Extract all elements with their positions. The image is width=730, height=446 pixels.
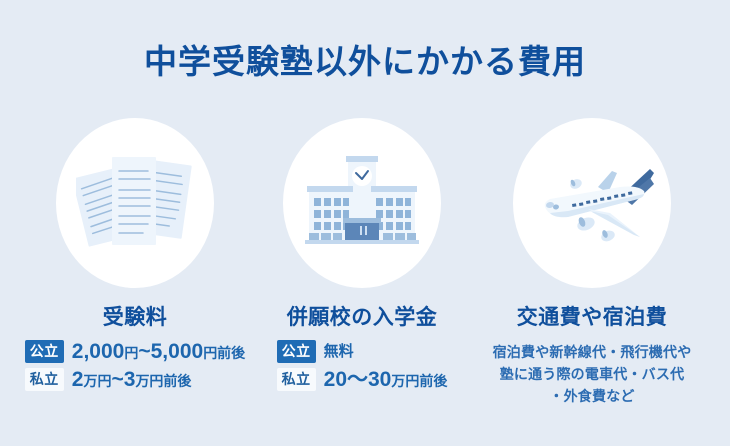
cost-column-travel-lodging: 交通費や宿泊費 宿泊費や新幹線代・飛行機代や 塾に通う際の電車代・バス代 ・外食… <box>476 118 708 407</box>
fee-amount-2: 5,000 <box>151 341 204 362</box>
page-title: 中学受験塾以外にかかる費用 <box>0 42 730 82</box>
documents-icon <box>76 147 194 259</box>
column-heading: 併願校の入学金 <box>287 305 438 331</box>
fee-rows: 公立 2,000円~5,000円前後 私立 2万円~3万円前後 <box>25 340 245 391</box>
column-description: 宿泊費や新幹線代・飛行機代や 塾に通う際の電車代・バス代 ・外食費など <box>493 342 692 407</box>
fee-tilde: 〜 <box>347 369 368 390</box>
fee-row: 私立 2万円~3万円前後 <box>25 368 245 391</box>
badge-private: 私立 <box>277 368 316 391</box>
fee-value: 2,000円~5,000円前後 <box>72 341 245 362</box>
fee-unit-1: 円 <box>124 346 138 360</box>
fee-tilde: ~ <box>111 369 123 390</box>
fee-amount-1: 20 <box>324 369 347 390</box>
fee-tilde: ~ <box>138 341 150 362</box>
school-building-icon <box>301 150 423 256</box>
fee-amount-2: 3 <box>124 369 136 390</box>
fee-row: 公立 無料 <box>277 340 448 363</box>
description-line: 宿泊費や新幹線代・飛行機代や <box>493 342 692 364</box>
infographic-root: 中学受験塾以外にかかる費用 <box>0 0 730 446</box>
fee-amount-2: 30 <box>368 369 391 390</box>
fee-rows: 公立 無料 私立 20〜30万円前後 <box>277 340 448 391</box>
badge-public: 公立 <box>25 340 64 363</box>
badge-private: 私立 <box>25 368 64 391</box>
fee-unit-2: 万円前後 <box>391 374 447 388</box>
fee-value: 2万円~3万円前後 <box>72 369 192 390</box>
fee-unit-2: 円前後 <box>203 346 245 360</box>
airplane-icon <box>528 151 656 255</box>
fee-unit-1: 万円 <box>83 374 111 388</box>
description-line: ・外食費など <box>493 386 692 408</box>
badge-public: 公立 <box>277 340 316 363</box>
fee-row: 公立 2,000円~5,000円前後 <box>25 340 245 363</box>
column-heading: 受験料 <box>103 305 168 331</box>
icon-circle-airplane <box>513 118 671 288</box>
fee-value-free: 無料 <box>324 344 354 359</box>
fee-row: 私立 20〜30万円前後 <box>277 368 448 391</box>
fee-unit-2: 万円前後 <box>135 374 191 388</box>
fee-value: 20〜30万円前後 <box>324 369 448 390</box>
fee-amount-1: 2 <box>72 369 84 390</box>
icon-circle-documents <box>56 118 214 288</box>
columns-container: 受験料 公立 2,000円~5,000円前後 私立 2万円~3万円前後 <box>0 118 730 407</box>
description-line: 塾に通う際の電車代・バス代 <box>493 364 692 386</box>
fee-amount-1: 2,000 <box>72 341 125 362</box>
cost-column-admission-fee: 併願校の入学金 公立 無料 私立 20〜30万円前後 <box>248 118 476 391</box>
column-heading: 交通費や宿泊費 <box>517 305 668 331</box>
icon-circle-school <box>283 118 441 288</box>
cost-column-exam-fee: 受験料 公立 2,000円~5,000円前後 私立 2万円~3万円前後 <box>22 118 248 391</box>
